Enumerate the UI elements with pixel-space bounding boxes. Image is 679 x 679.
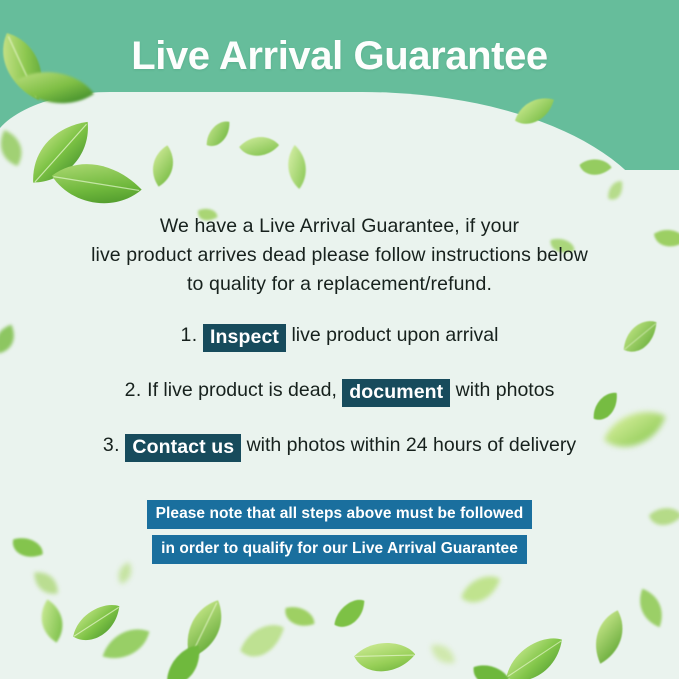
step-highlight-contact-us[interactable]: Contact us [125, 434, 241, 462]
note-row-1: Please note that all steps above must be… [0, 500, 679, 529]
live-arrival-guarantee-poster: Live Arrival Guarantee We have a Live Ar… [0, 0, 679, 679]
step-number: 2. [125, 379, 142, 401]
step-text-after: with photos within 24 hours of delivery [247, 434, 577, 456]
intro-line-1: We have a Live Arrival Guarantee, if you… [60, 212, 619, 241]
step-highlight-document[interactable]: document [342, 379, 450, 407]
steps-list: 1. Inspect live product upon arrival 2. … [0, 320, 679, 485]
step-highlight-inspect[interactable]: Inspect [203, 324, 286, 352]
note-row-2: in order to qualify for our Live Arrival… [0, 535, 679, 564]
step-item-1: 1. Inspect live product upon arrival [0, 320, 679, 350]
intro-paragraph: We have a Live Arrival Guarantee, if you… [60, 212, 619, 299]
step-text-after: live product upon arrival [291, 324, 498, 346]
intro-line-3: to quality for a replacement/refund. [60, 270, 619, 299]
step-text-after: with photos [456, 379, 555, 401]
content-area: We have a Live Arrival Guarantee, if you… [0, 0, 679, 679]
page-title: Live Arrival Guarantee [0, 34, 679, 79]
note-line-1: Please note that all steps above must be… [147, 500, 533, 529]
note-line-2: in order to qualify for our Live Arrival… [152, 535, 527, 564]
intro-line-2: live product arrives dead please follow … [60, 241, 619, 270]
step-item-2: 2. If live product is dead, document wit… [0, 375, 679, 405]
step-number: 1. [181, 324, 198, 346]
step-item-3: 3. Contact us with photos within 24 hour… [0, 430, 679, 460]
step-number: 3. [103, 434, 120, 456]
note-banner: Please note that all steps above must be… [0, 500, 679, 570]
step-text-before: If live product is dead, [147, 379, 337, 401]
